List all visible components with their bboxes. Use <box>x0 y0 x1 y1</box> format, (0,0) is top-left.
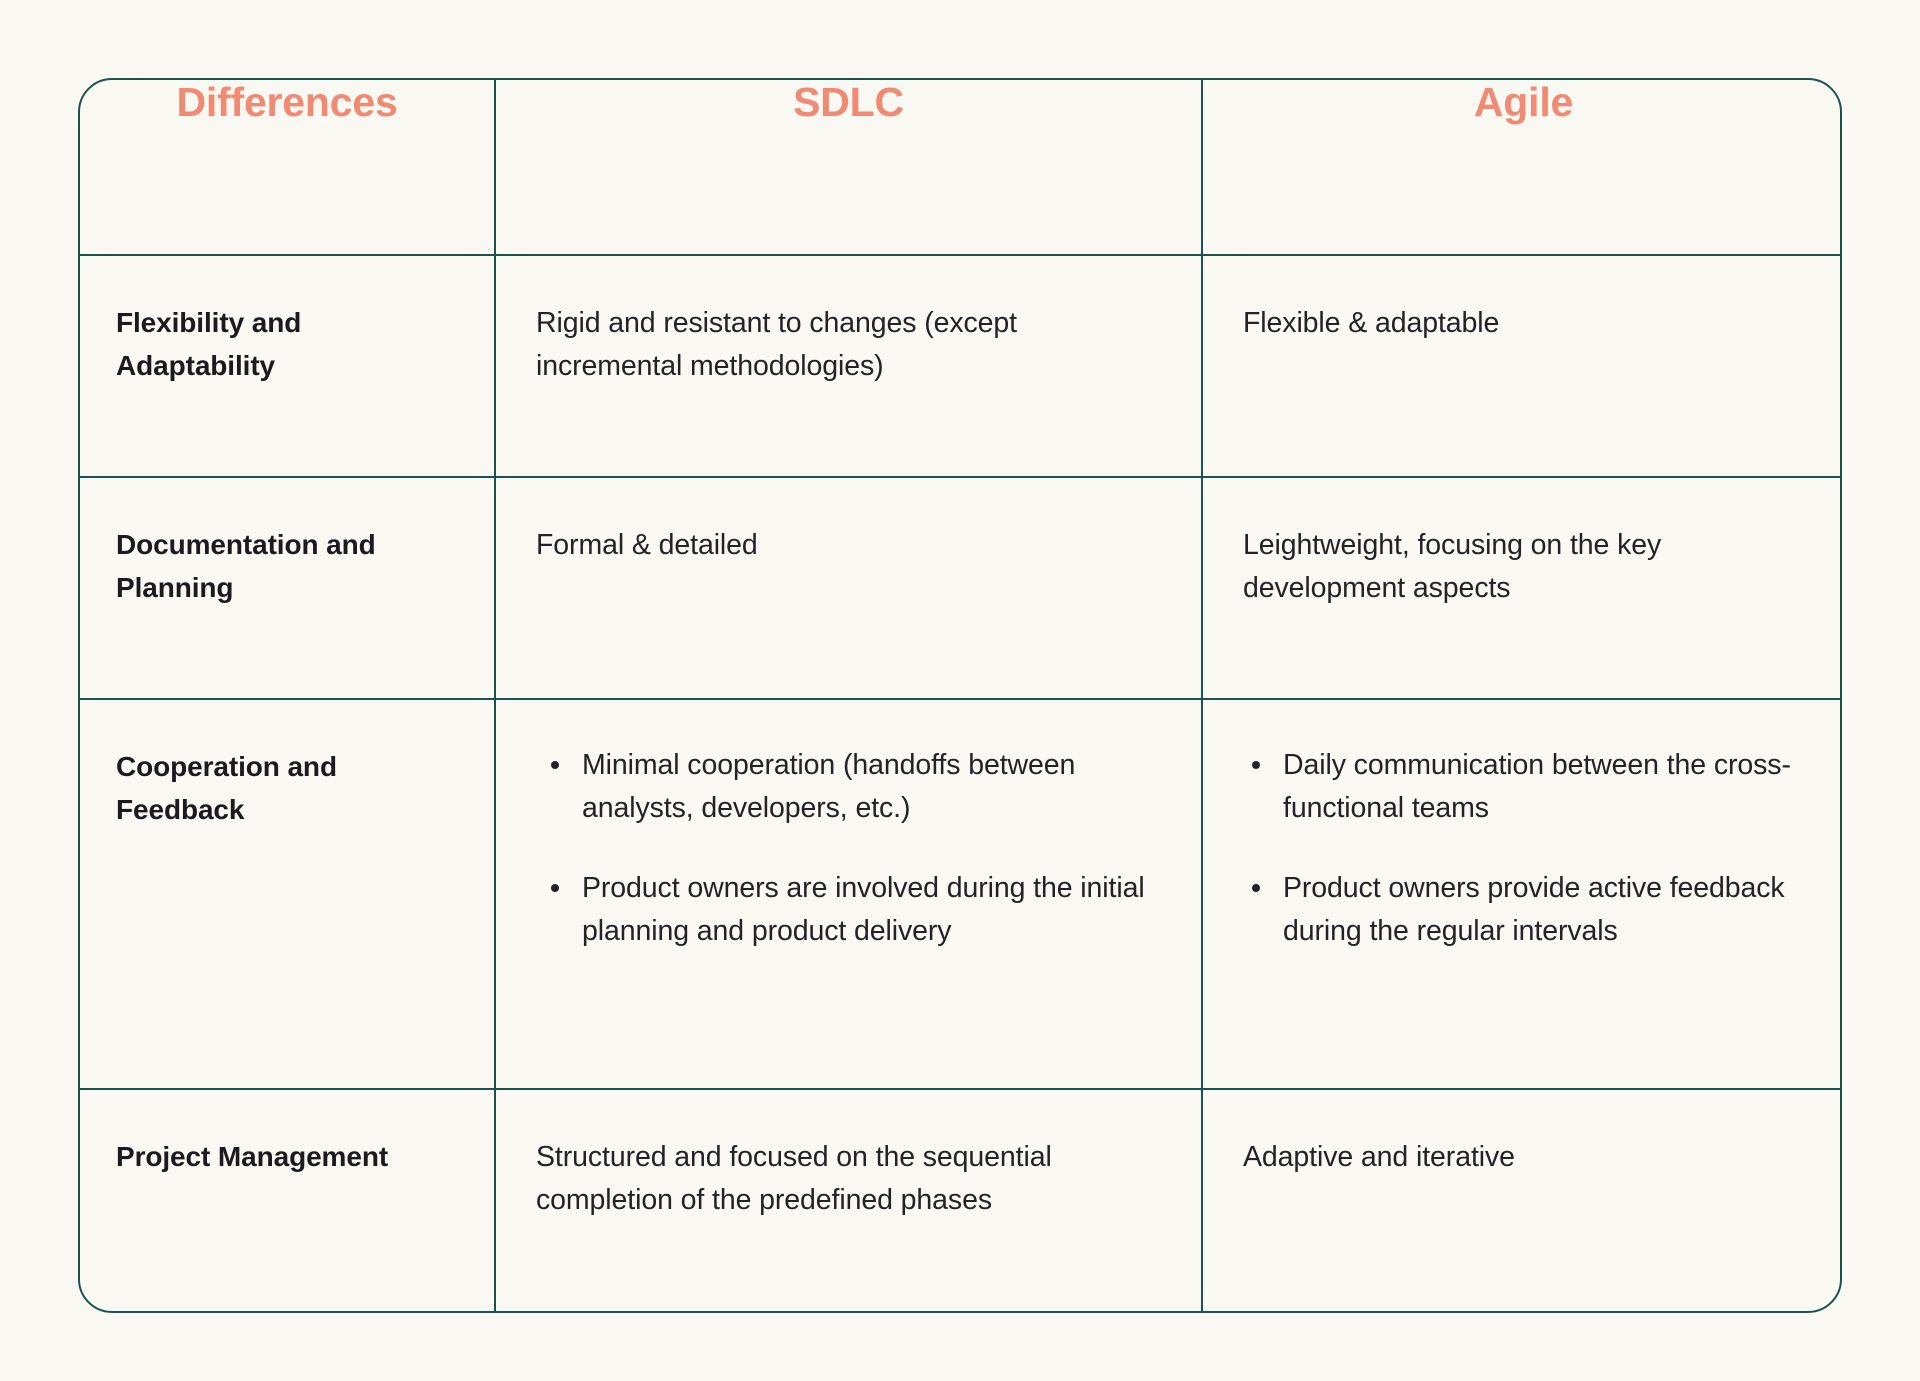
bullet-dot-icon <box>1252 761 1260 769</box>
cell-content: Daily communication between the cross-fu… <box>1203 700 1842 983</box>
sdlc-text-project-management: Structured and focused on the sequential… <box>536 1136 1161 1223</box>
sdlc-cell: Rigid and resistant to changes (except i… <box>495 255 1202 477</box>
list-item: Minimal cooperation (handoffs between an… <box>546 744 1161 831</box>
list-item-text: Daily communication between the cross-fu… <box>1283 749 1791 824</box>
header-label-agile: Agile <box>1203 80 1842 125</box>
sdlc-text-documentation: Formal & detailed <box>536 524 1161 567</box>
agile-cell: Daily communication between the cross-fu… <box>1202 699 1842 1089</box>
cell-content: Formal & detailed <box>496 478 1201 597</box>
row-label-cell: Documentation and Planning <box>80 477 495 699</box>
row-label-cell: Flexibility and Adaptability <box>80 255 495 477</box>
sdlc-cell: Minimal cooperation (handoffs between an… <box>495 699 1202 1089</box>
bullet-dot-icon <box>1252 884 1260 892</box>
agile-cell: Leightweight, focusing on the key develo… <box>1202 477 1842 699</box>
agile-text-flexibility: Flexible & adaptable <box>1243 302 1804 345</box>
cell-content: Documentation and Planning <box>80 478 494 639</box>
table-row: Flexibility and Adaptability Rigid and r… <box>80 255 1842 477</box>
row-label-documentation: Documentation and Planning <box>116 524 454 609</box>
agile-text-project-management: Adaptive and iterative <box>1243 1136 1804 1179</box>
sdlc-text-flexibility: Rigid and resistant to changes (except i… <box>536 302 1161 389</box>
cell-content: Rigid and resistant to changes (except i… <box>496 256 1201 419</box>
row-label-project-management: Project Management <box>116 1136 454 1179</box>
agile-cell: Adaptive and iterative <box>1202 1089 1842 1313</box>
list-item-text: Product owners provide active feedback d… <box>1283 872 1785 947</box>
header-cell-sdlc: SDLC <box>495 80 1202 255</box>
header-row: Differences SDLC Agile <box>80 80 1842 255</box>
cell-content: Leightweight, focusing on the key develo… <box>1203 478 1842 641</box>
table-row: Documentation and Planning Formal & deta… <box>80 477 1842 699</box>
list-item: Product owners provide active feedback d… <box>1247 867 1804 954</box>
agile-text-documentation: Leightweight, focusing on the key develo… <box>1243 524 1804 611</box>
page-root: Differences SDLC Agile Flexibility and A… <box>0 0 1920 1381</box>
list-item: Daily communication between the cross-fu… <box>1247 744 1804 831</box>
table-row: Cooperation and Feedback Minimal coopera… <box>80 699 1842 1089</box>
header-label-sdlc: SDLC <box>496 80 1201 125</box>
header-label-differences: Differences <box>80 80 494 125</box>
sdlc-cell: Structured and focused on the sequential… <box>495 1089 1202 1313</box>
sdlc-cell: Formal & detailed <box>495 477 1202 699</box>
table-body: Flexibility and Adaptability Rigid and r… <box>80 255 1842 1313</box>
cell-content: Flexible & adaptable <box>1203 256 1842 375</box>
agile-cell: Flexible & adaptable <box>1202 255 1842 477</box>
row-label-cell: Cooperation and Feedback <box>80 699 495 1089</box>
cell-content: Project Management <box>80 1090 494 1209</box>
list-item: Product owners are involved during the i… <box>546 867 1161 954</box>
header-cell-differences: Differences <box>80 80 495 255</box>
bullet-dot-icon <box>551 761 559 769</box>
header-cell-agile: Agile <box>1202 80 1842 255</box>
cell-content: Minimal cooperation (handoffs between an… <box>496 700 1201 983</box>
cell-content: Cooperation and Feedback <box>80 700 494 861</box>
comparison-table-container: Differences SDLC Agile Flexibility and A… <box>78 78 1842 1313</box>
row-label-cell: Project Management <box>80 1089 495 1313</box>
table-row: Project Management Structured and focuse… <box>80 1089 1842 1313</box>
list-item-text: Minimal cooperation (handoffs between an… <box>582 749 1075 824</box>
comparison-table: Differences SDLC Agile Flexibility and A… <box>80 80 1842 1313</box>
row-label-flexibility: Flexibility and Adaptability <box>116 302 454 387</box>
agile-bullet-list: Daily communication between the cross-fu… <box>1247 744 1804 953</box>
table-header: Differences SDLC Agile <box>80 80 1842 255</box>
sdlc-bullet-list: Minimal cooperation (handoffs between an… <box>546 744 1161 953</box>
cell-content: Flexibility and Adaptability <box>80 256 494 417</box>
cell-content: Adaptive and iterative <box>1203 1090 1842 1209</box>
list-item-text: Product owners are involved during the i… <box>582 872 1145 947</box>
bullet-dot-icon <box>551 884 559 892</box>
row-label-cooperation: Cooperation and Feedback <box>116 746 454 831</box>
cell-content: Structured and focused on the sequential… <box>496 1090 1201 1253</box>
